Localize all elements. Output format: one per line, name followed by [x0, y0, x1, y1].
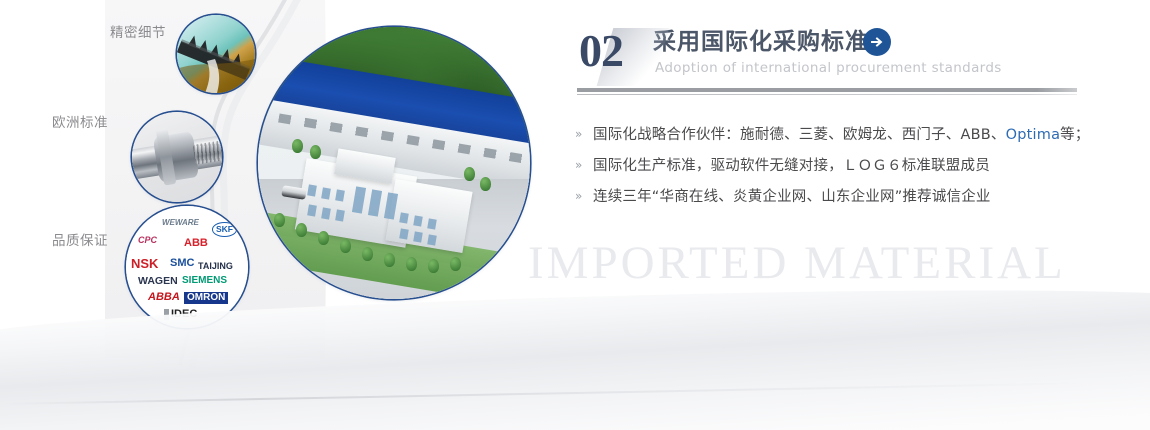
section-subtitle: Adoption of international procurement st… [655, 60, 1002, 76]
bullet-list: »国际化战略合作伙伴：施耐德、三菱、欧姆龙、西门子、ABB、Optima等；»国… [575, 118, 1115, 211]
ball-screw-shaft-photo [132, 112, 222, 202]
label-european-standard: 欧洲标准 [52, 111, 108, 131]
bullet-text-highlight: Optima [1006, 127, 1061, 143]
bullet-marker-icon: » [575, 159, 593, 171]
bullet-item: »连续三年“华商在线、炎黄企业网、山东企业网”推荐诚信企业 [575, 180, 1115, 211]
bullet-marker-icon: » [575, 128, 593, 140]
brand-logo-nsk: NSK [131, 257, 158, 270]
brand-logo-abb: ABB [184, 238, 208, 249]
arrow-right-button[interactable] [863, 28, 891, 56]
section-title: 采用国际化采购标准 [653, 28, 869, 57]
brand-logo-smc: SMC [170, 258, 194, 269]
brand-logos-photo: WEWARESKFABBCPCNSKSMCTAIJINGWAGENSIEMENS… [126, 206, 248, 328]
section-number: 02 [579, 28, 623, 74]
brand-logo-taijing: TAIJING [198, 262, 233, 271]
bullet-text: 国际化战略合作伙伴：施耐德、三菱、欧姆龙、西门子、ABB、Optima等； [593, 123, 1090, 144]
label-quality-guarantee: 品质保证 [52, 229, 108, 249]
bullet-text: 国际化生产标准，驱动软件无缝对接，ＬＯＧ６标准联盟成员 [593, 154, 990, 175]
bullet-text-tail: 等； [1060, 127, 1089, 143]
promo-banner: 精密细节 欧洲标准 品质保证 WEWARESKFABBCPCNSKSMCTAIJ… [0, 0, 1150, 430]
bullet-marker-icon: » [575, 190, 593, 202]
bullet-text-main: 国际化生产标准，驱动软件无缝对接，ＬＯＧ６标准联盟成员 [593, 158, 990, 174]
section-content: 02 采用国际化采购标准 Adoption of international p… [575, 22, 1120, 98]
brand-logo-omron: OMRON [184, 292, 228, 304]
bullet-item: »国际化战略合作伙伴：施耐德、三菱、欧姆龙、西门子、ABB、Optima等； [575, 118, 1115, 149]
watermark-text: IMPORTED MATERIAL [528, 236, 1066, 290]
label-precision-detail: 精密细节 [110, 21, 166, 41]
brand-logo-wagen: WAGEN [138, 276, 178, 287]
brand-logo-cpc: CPC [138, 236, 157, 245]
brand-logo-skf: SKF [212, 222, 237, 237]
brand-logo-weware: WEWARE [162, 219, 199, 227]
header-divider-thin [577, 94, 1077, 95]
brand-logo-idec: IDEC [164, 309, 197, 320]
bullet-text-main: 国际化战略合作伙伴：施耐德、三菱、欧姆龙、西门子、ABB、 [593, 127, 1006, 143]
brand-logo-abba: ABBA [148, 292, 180, 303]
section-header: 02 采用国际化采购标准 Adoption of international p… [575, 22, 1120, 98]
brand-logo-siemens: SIEMENS [182, 276, 227, 286]
bottom-ribbon-line [0, 381, 1150, 405]
bullet-text-main: 连续三年“华商在线、炎黄企业网、山东企业网”推荐诚信企业 [593, 189, 991, 205]
arrow-right-icon [869, 34, 885, 50]
bullet-text: 连续三年“华商在线、炎黄企业网、山东企业网”推荐诚信企业 [593, 185, 991, 206]
bullet-item: »国际化生产标准，驱动软件无缝对接，ＬＯＧ６标准联盟成员 [575, 149, 1115, 180]
factory-aerial-photo [258, 27, 530, 299]
header-divider [577, 88, 1077, 92]
gear-teeth-closeup-photo [177, 15, 255, 93]
